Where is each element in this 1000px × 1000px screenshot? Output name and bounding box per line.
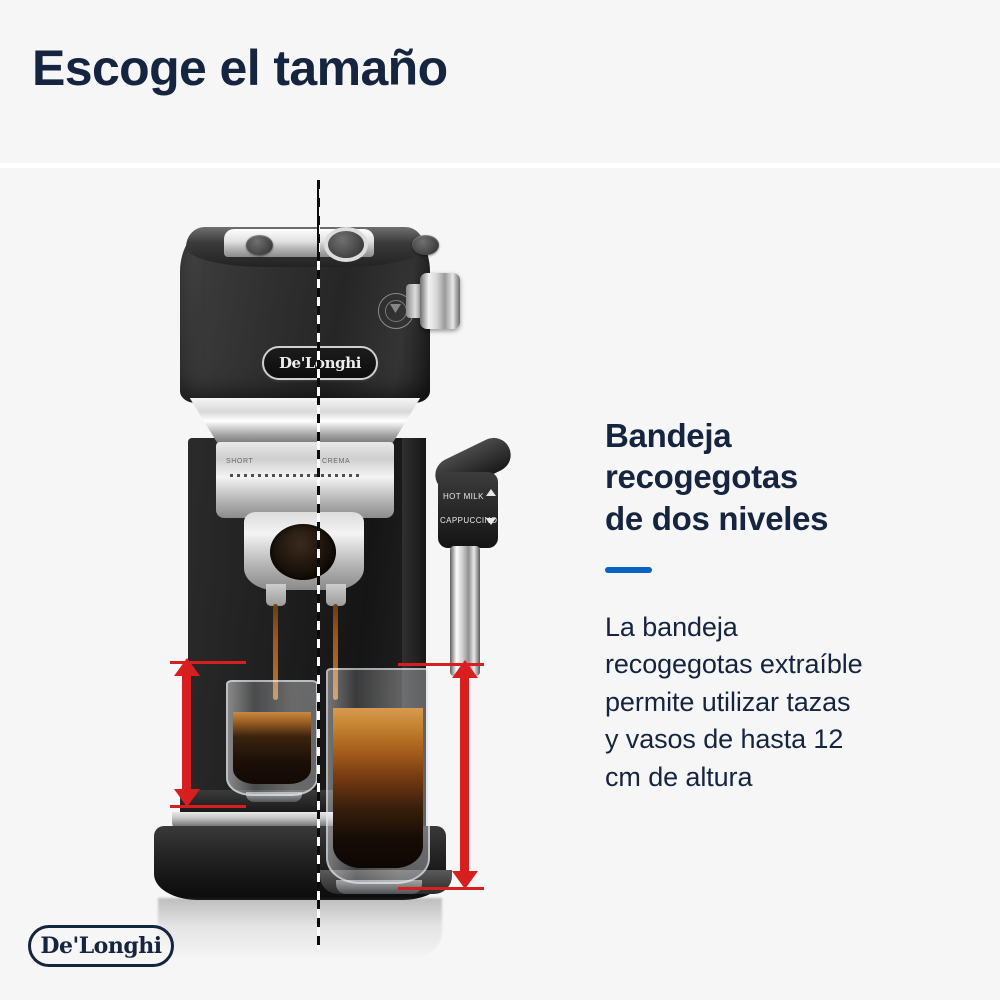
split-comparison-divider <box>317 180 320 950</box>
machine-brand-badge-label: De'Longhi <box>279 354 361 372</box>
steam-wand-label-hot-milk: HOT MILK <box>443 492 484 501</box>
coffee-glass-tall-contents <box>333 708 423 868</box>
group-label-short: SHORT <box>226 458 253 465</box>
machine-portafilter <box>244 512 364 590</box>
product-image: De'Longhi SHORT CREMA HOT MILK CAPPUCCIN… <box>120 180 540 970</box>
machine-control-plate <box>224 229 374 257</box>
feature-description: La bandeja recogegotas extraíble permite… <box>605 609 955 797</box>
group-label-crema: CREMA <box>322 458 350 465</box>
machine-button-one-cup <box>246 235 273 255</box>
promo-page: Escoge el tamaño De'Longhi SHORT CREMA <box>0 0 1000 1000</box>
page-title: Escoge el tamaño <box>32 42 448 95</box>
feature-accent-divider <box>605 567 652 573</box>
espresso-cup-small-base <box>246 792 302 802</box>
machine-button-two-cup <box>412 235 439 255</box>
arrow-down-icon <box>486 518 496 525</box>
machine-boiler-head: De'Longhi <box>180 228 430 403</box>
machine-group-body: SHORT CREMA <box>216 442 394 518</box>
machine-button-power <box>328 231 364 258</box>
brand-logo: De'Longhi <box>28 925 174 967</box>
measure-arrow-right-up-icon <box>452 660 478 678</box>
steam-wand-tube <box>450 546 480 676</box>
feature-copy-block: Bandeja recogegotas de dos niveles La ba… <box>605 415 955 796</box>
measure-arrow-left-up-icon <box>174 658 200 676</box>
espresso-cup-small <box>226 680 318 796</box>
measure-arrow-right-down-icon <box>452 871 478 889</box>
steam-wand-collar <box>438 472 498 548</box>
machine-reflection <box>158 898 442 960</box>
espresso-cup-small-contents <box>233 712 311 784</box>
group-dot-scale <box>230 474 360 477</box>
portafilter-basket <box>270 524 336 580</box>
header-band: Escoge el tamaño <box>0 0 1000 163</box>
portafilter-spout-left <box>266 584 286 606</box>
portafilter-spout-right <box>326 584 346 606</box>
split-comparison-divider-top <box>317 180 319 252</box>
measure-arrow-right-shaft <box>460 677 469 873</box>
machine-steam-knob <box>420 273 460 329</box>
machine-group-head-chrome <box>177 398 433 444</box>
arrow-up-icon <box>486 489 496 496</box>
coffee-glass-tall <box>326 668 430 884</box>
header-divider <box>0 163 1000 168</box>
brand-logo-label: De'Longhi <box>40 933 161 959</box>
measure-arrow-left-shaft <box>182 675 191 793</box>
feature-heading: Bandeja recogegotas de dos niveles <box>605 415 955 539</box>
measure-arrow-left-down-icon <box>174 789 200 807</box>
machine-brand-badge: De'Longhi <box>262 346 378 380</box>
